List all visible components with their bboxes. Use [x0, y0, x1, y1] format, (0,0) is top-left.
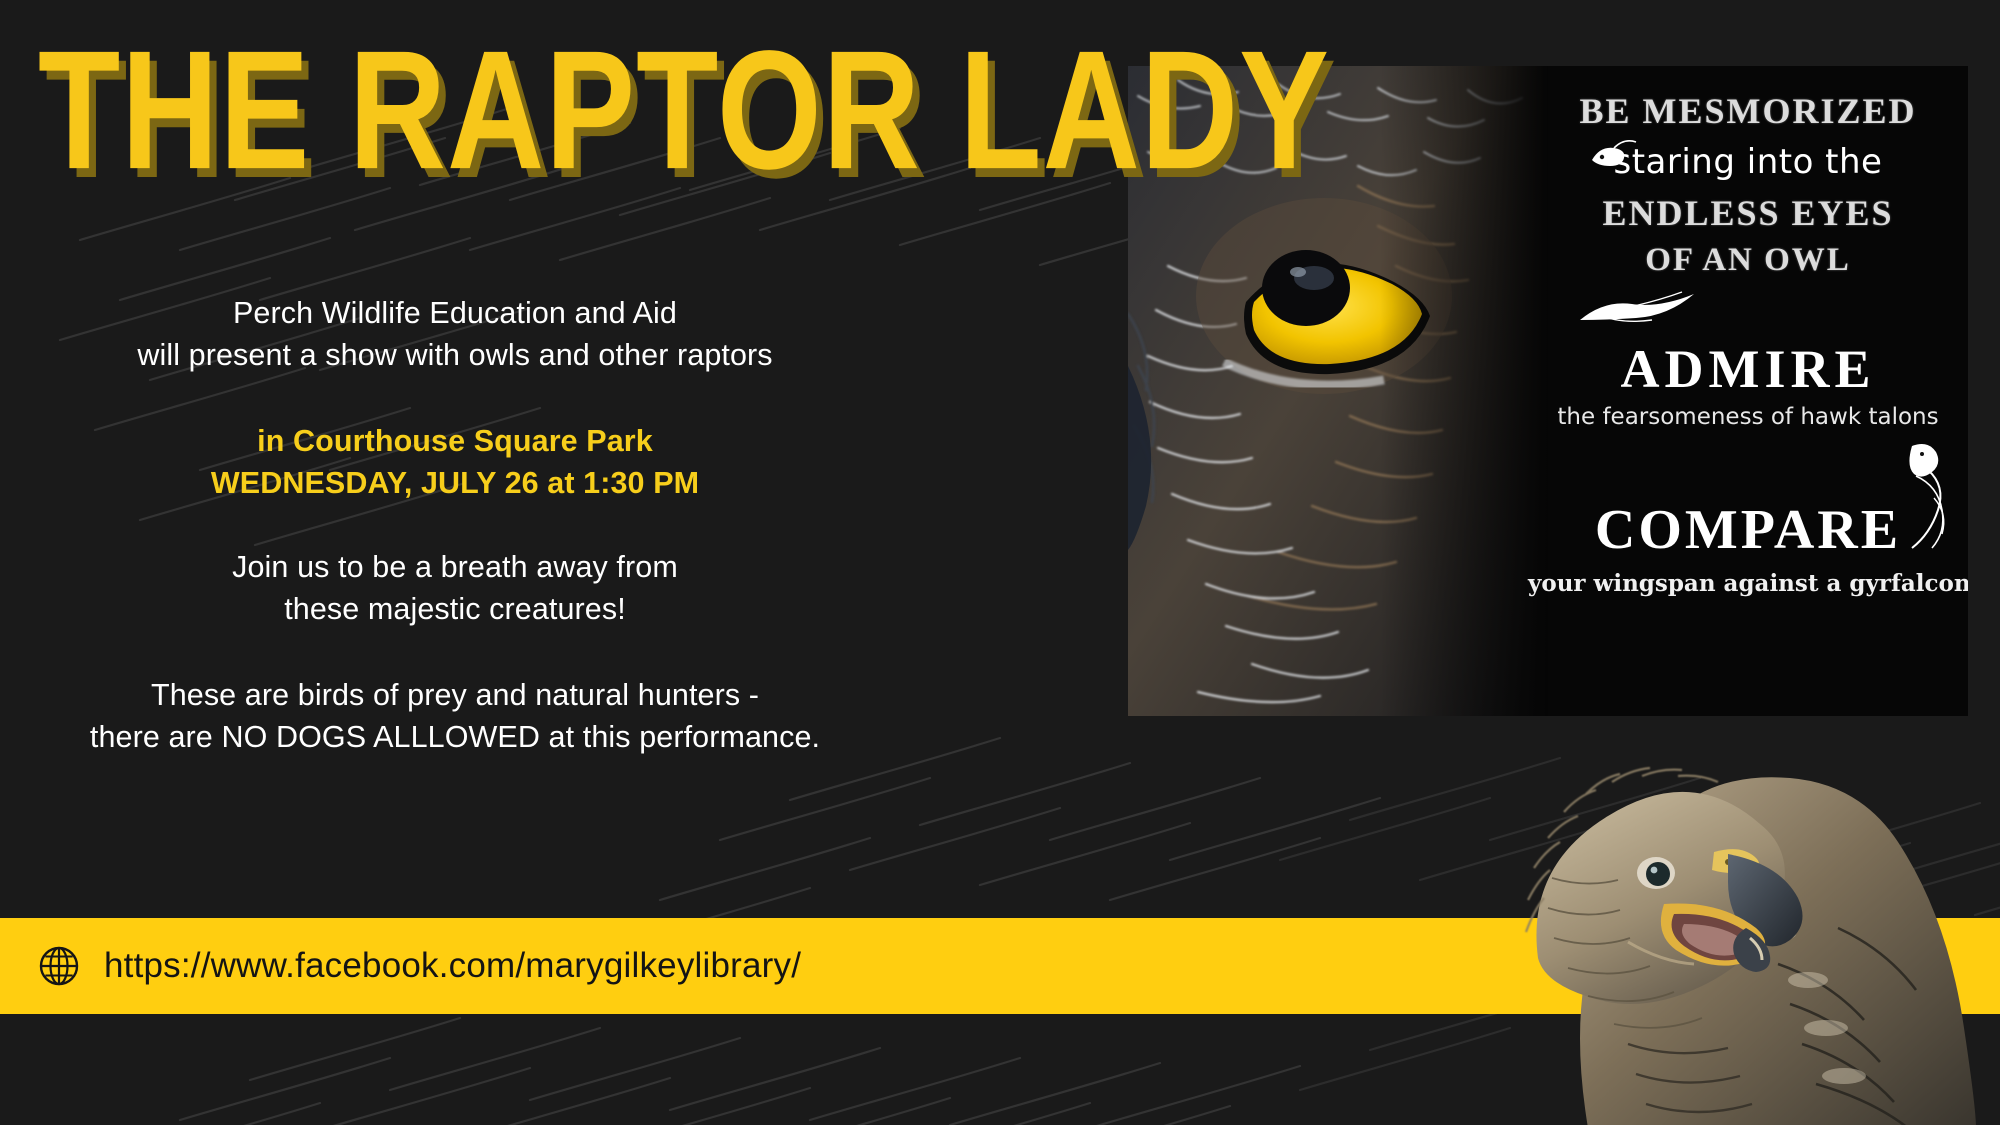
intro-paragraph: Perch Wildlife Education and Aid will pr… — [0, 292, 910, 376]
owl-line-of-an-owl: OF AN OWL — [1528, 242, 1968, 279]
spacer-3 — [0, 630, 910, 674]
owl-poster-text: BE MESMORIZED staring into the ENDLESS E… — [1528, 66, 1968, 716]
parrot-flourish-icon — [1882, 436, 1962, 556]
event-poster: THE RAPTOR LADY Perch Wildlife Education… — [0, 0, 2000, 1125]
footer-url-bar: https://www.facebook.com/marygilkeylibra… — [0, 918, 2000, 1014]
event-location: in Courthouse Square Park — [0, 420, 910, 462]
swallow-flourish-icon — [1576, 290, 1706, 340]
spacer-1 — [0, 376, 910, 420]
owl-line-endless-eyes: ENDLESS EYES — [1528, 192, 1968, 234]
warning-line-1: These are birds of prey and natural hunt… — [0, 674, 910, 716]
invitation-paragraph: Join us to be a breath away from these m… — [0, 546, 910, 630]
globe-icon — [36, 943, 82, 989]
spacer-2 — [0, 504, 910, 546]
warning-line-2: there are NO DOGS ALLLOWED at this perfo… — [0, 716, 910, 758]
facebook-url-link[interactable]: https://www.facebook.com/marygilkeylibra… — [104, 946, 801, 986]
invitation-line-2: these majestic creatures! — [0, 588, 910, 630]
invitation-line-1: Join us to be a breath away from — [0, 546, 910, 588]
page-title: THE RAPTOR LADY — [38, 26, 1330, 195]
owl-line-fearsomeness: the fearsomeness of hawk talons — [1528, 404, 1968, 430]
owl-line-be-mesmorized: BE MESMORIZED — [1528, 90, 1968, 132]
intro-line-2: will present a show with owls and other … — [0, 334, 910, 376]
poster-copy-column: Perch Wildlife Education and Aid will pr… — [0, 292, 910, 758]
intro-line-1: Perch Wildlife Education and Aid — [0, 292, 910, 334]
bird-flourish-small-icon — [1588, 138, 1648, 172]
event-datetime: WEDNESDAY, JULY 26 at 1:30 PM — [0, 462, 910, 504]
warning-paragraph: These are birds of prey and natural hunt… — [0, 674, 910, 758]
owl-line-wingspan: your wingspan against a gyrfalcon's — [1528, 570, 1968, 597]
poster-title-wrap: THE RAPTOR LADY — [38, 26, 1305, 158]
owl-line-admire: ADMIRE — [1528, 338, 1968, 400]
event-details-paragraph: in Courthouse Square Park WEDNESDAY, JUL… — [0, 420, 910, 504]
